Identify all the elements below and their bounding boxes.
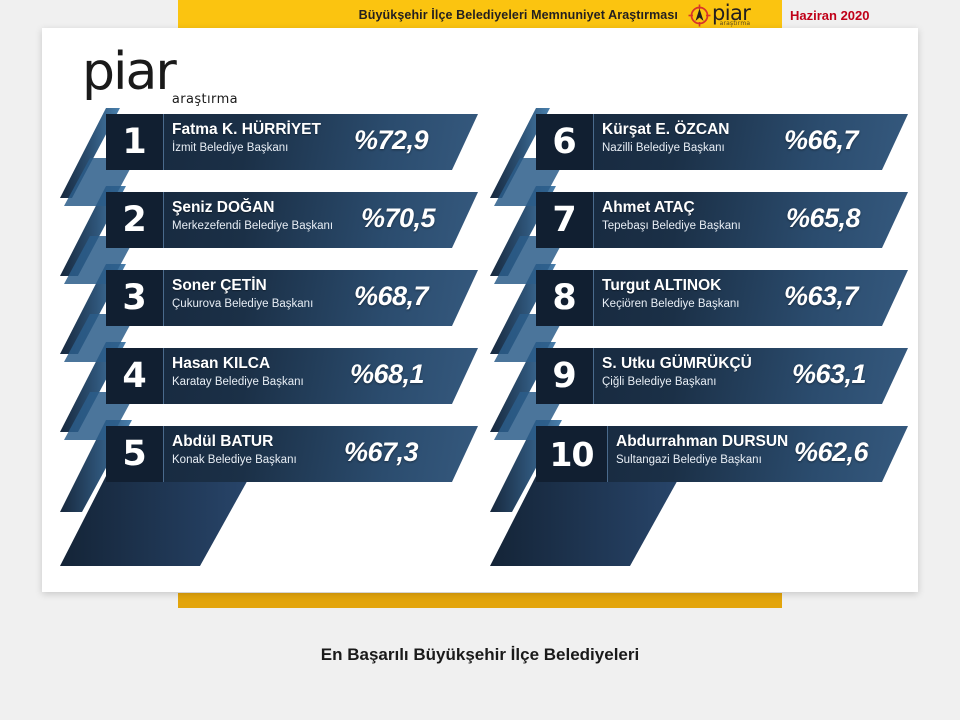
satisfaction-value: %63,7 <box>784 281 858 311</box>
header-piar-logo: piar araştırma <box>688 2 774 28</box>
municipality-title: Merkezefendi Belediye Başkanı <box>172 218 362 234</box>
mayor-name: Hasan KILCA <box>172 354 362 373</box>
ranking-row-info: Turgut ALTINOKKeçiören Belediye Başkanı <box>602 276 792 312</box>
ranking-row[interactable]: 8Turgut ALTINOKKeçiören Belediye Başkanı… <box>536 270 908 326</box>
ranking-position-number: 5 <box>122 437 146 472</box>
ranking-row[interactable]: 3Soner ÇETİNÇukurova Belediye Başkanı%68… <box>106 270 478 326</box>
mayor-name: Turgut ALTINOK <box>602 276 792 295</box>
ranking-row[interactable]: 10Abdurrahman DURSUNSultangazi Belediye … <box>536 426 908 482</box>
municipality-title: Nazilli Belediye Başkanı <box>602 140 792 156</box>
mayor-name: Fatma K. HÜRRİYET <box>172 120 362 139</box>
satisfaction-value: %66,7 <box>784 125 858 155</box>
ranking-row[interactable]: 6Kürşat E. ÖZCANNazilli Belediye Başkanı… <box>536 114 908 170</box>
ranking-position: 4 <box>106 348 164 404</box>
mayor-name: Ahmet ATAÇ <box>602 198 792 217</box>
mayor-name: S. Utku GÜMRÜKÇÜ <box>602 354 792 373</box>
satisfaction-value: %68,1 <box>350 359 424 389</box>
ranking-row[interactable]: 9S. Utku GÜMRÜKÇÜÇiğli Belediye Başkanı%… <box>536 348 908 404</box>
ranking-row-info: Abdül BATURKonak Belediye Başkanı <box>172 432 362 468</box>
mayor-name: Şeniz DOĞAN <box>172 198 362 217</box>
municipality-title: Sultangazi Belediye Başkanı <box>616 452 806 468</box>
ranking-position-number: 2 <box>122 203 146 238</box>
header-logo-text: piar araştırma <box>712 3 750 27</box>
ranking-position: 5 <box>106 426 164 482</box>
satisfaction-value: %62,6 <box>794 437 868 467</box>
ranking-position: 7 <box>536 192 594 248</box>
ranking-column-left: 1Fatma K. HÜRRİYETİzmit Belediye Başkanı… <box>60 28 480 592</box>
mayor-name: Abdurrahman DURSUN <box>616 432 806 451</box>
ranking-column-right: 6Kürşat E. ÖZCANNazilli Belediye Başkanı… <box>490 28 910 592</box>
ranking-row[interactable]: 7Ahmet ATAÇTepebaşı Belediye Başkanı%65,… <box>536 192 908 248</box>
ranking-position-number: 1 <box>122 125 146 160</box>
ranking-row[interactable]: 2Şeniz DOĞANMerkezefendi Belediye Başkan… <box>106 192 478 248</box>
municipality-title: Çukurova Belediye Başkanı <box>172 296 362 312</box>
ranking-position-number: 10 <box>550 438 594 471</box>
municipality-title: İzmit Belediye Başkanı <box>172 140 362 156</box>
header-date: Haziran 2020 <box>790 8 870 23</box>
mayor-name: Abdül BATUR <box>172 432 362 451</box>
mayor-name: Kürşat E. ÖZCAN <box>602 120 792 139</box>
ranking-row-info: Fatma K. HÜRRİYETİzmit Belediye Başkanı <box>172 120 362 156</box>
ranking-row-info: Ahmet ATAÇTepebaşı Belediye Başkanı <box>602 198 792 234</box>
header-band: Büyükşehir İlçe Belediyeleri Memnuniyet … <box>178 0 782 30</box>
ranking-row-info: Abdurrahman DURSUNSultangazi Belediye Ba… <box>616 432 806 468</box>
ranking-row-info: Kürşat E. ÖZCANNazilli Belediye Başkanı <box>602 120 792 156</box>
ranking-row-info: Şeniz DOĞANMerkezefendi Belediye Başkanı <box>172 198 362 234</box>
mayor-name: Soner ÇETİN <box>172 276 362 295</box>
satisfaction-value: %72,9 <box>354 125 428 155</box>
ranking-row-info: Soner ÇETİNÇukurova Belediye Başkanı <box>172 276 362 312</box>
satisfaction-value: %70,5 <box>361 203 435 233</box>
bottom-accent-bar <box>178 593 782 608</box>
ranking-position-number: 6 <box>552 125 576 160</box>
ranking-position: 2 <box>106 192 164 248</box>
municipality-title: Konak Belediye Başkanı <box>172 452 362 468</box>
municipality-title: Karatay Belediye Başkanı <box>172 374 362 390</box>
satisfaction-value: %68,7 <box>354 281 428 311</box>
ranking-position: 6 <box>536 114 594 170</box>
ranking-position: 1 <box>106 114 164 170</box>
municipality-title: Tepebaşı Belediye Başkanı <box>602 218 792 234</box>
ranking-row-info: Hasan KILCAKaratay Belediye Başkanı <box>172 354 362 390</box>
municipality-title: Çiğli Belediye Başkanı <box>602 374 792 390</box>
ranking-row[interactable]: 4Hasan KILCAKaratay Belediye Başkanı%68,… <box>106 348 478 404</box>
ranking-row-info: S. Utku GÜMRÜKÇÜÇiğli Belediye Başkanı <box>602 354 792 390</box>
satisfaction-value: %65,8 <box>786 203 860 233</box>
ranking-row[interactable]: 1Fatma K. HÜRRİYETİzmit Belediye Başkanı… <box>106 114 478 170</box>
satisfaction-value: %67,3 <box>344 437 418 467</box>
infographic-card: piar araştırma <box>42 28 918 592</box>
ranking-row[interactable]: 5Abdül BATURKonak Belediye Başkanı%67,3 <box>106 426 478 482</box>
ranking-position-number: 3 <box>122 281 146 316</box>
municipality-title: Keçiören Belediye Başkanı <box>602 296 792 312</box>
ranking-position-number: 4 <box>122 359 146 394</box>
ranking-position: 9 <box>536 348 594 404</box>
ranking-position-number: 9 <box>552 359 576 394</box>
page-caption: En Başarılı Büyükşehir İlçe Belediyeleri <box>0 645 960 665</box>
ranking-position: 3 <box>106 270 164 326</box>
ranking-position: 10 <box>536 426 608 482</box>
piar-compass-icon <box>688 4 711 27</box>
satisfaction-value: %63,1 <box>792 359 866 389</box>
header-title: Büyükşehir İlçe Belediyeleri Memnuniyet … <box>359 8 678 22</box>
ranking-position-number: 7 <box>552 203 576 238</box>
ranking-position: 8 <box>536 270 594 326</box>
ranking-position-number: 8 <box>552 281 576 316</box>
